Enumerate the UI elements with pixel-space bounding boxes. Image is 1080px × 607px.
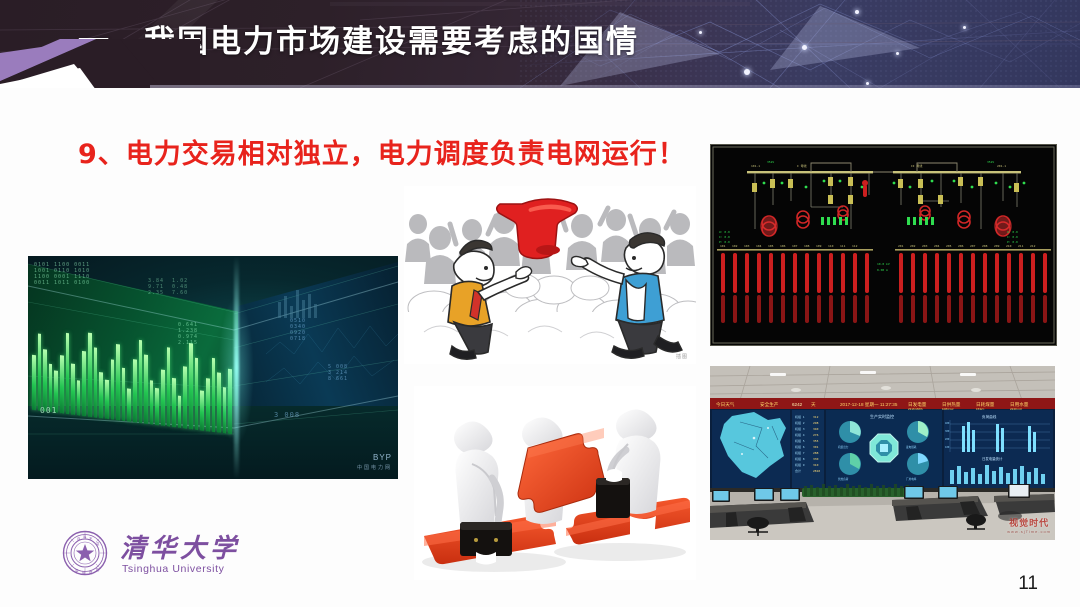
control-room-watermark-subtext: www.sjTime.com (1007, 529, 1051, 534)
slide-subtitle: 9、电力交易相对独立，电力调度负责电网运行！ (78, 132, 686, 171)
power-dispatch-control-room-photo: 今日天气 安全生产 6242 天 2017-12-18 星期一 11:27:35… (710, 366, 1055, 540)
header-bottom-edge-line (150, 85, 1080, 88)
svg-text:276: 276 (813, 433, 819, 437)
bar-3 (43, 350, 47, 412)
bar-8 (71, 364, 75, 415)
bar-33 (212, 358, 216, 432)
bar-18 (127, 388, 131, 422)
svg-text:101-1: 101-1 (751, 164, 760, 168)
svg-text:100: 100 (945, 446, 950, 449)
svg-text:生产实时监控: 生产实时监控 (870, 413, 894, 419)
bar-10 (82, 351, 86, 417)
svg-text:P: 0.0: P: 0.0 (1007, 240, 1018, 244)
page-number: 11 (1018, 573, 1038, 595)
svg-text:I: 0.0: I: 0.0 (719, 235, 730, 239)
svg-text:机组 2: 机组 2 (795, 420, 805, 425)
svg-text:206: 206 (958, 244, 964, 248)
svg-text:301: 301 (813, 445, 819, 449)
svg-text:机组 9: 机组 9 (795, 462, 805, 467)
svg-text:288: 288 (813, 451, 819, 455)
businessmen-red-stamp-cartoon: 插图 (404, 186, 696, 364)
electricity-trading-data-visualization: 0101 1100 0011 1001 0110 1010 1100 0001 … (28, 256, 398, 479)
bar-1 (32, 355, 36, 410)
svg-text:109: 109 (816, 244, 822, 248)
svg-text:310: 310 (813, 463, 819, 467)
green-watermark-text: BYP (373, 453, 392, 462)
svg-text:212: 212 (1030, 244, 1036, 248)
svg-text:101: 101 (720, 244, 726, 248)
bar-20 (139, 340, 143, 423)
bar-19 (133, 359, 137, 423)
control-room-watermark-text: 视觉时代 (1009, 518, 1049, 528)
svg-text:340: 340 (813, 427, 819, 431)
green-image-watermark: BYP 中国电力网 (357, 453, 392, 473)
svg-text:108: 108 (804, 244, 810, 248)
slide-canvas: 一、我国电力市场建设需要考虑的国情 9、电力交易相对独立，电力调度负责电网运行！ (0, 0, 1080, 607)
svg-text:负荷曲线: 负荷曲线 (982, 414, 997, 419)
svg-text:202: 202 (910, 244, 916, 248)
blue-data-text-2: 5 008 3 214 8 661 (328, 364, 348, 382)
svg-text:合计: 合计 (795, 468, 801, 473)
svg-text:112: 112 (852, 244, 858, 248)
svg-text:200: 200 (945, 438, 950, 441)
svg-text:自: 自 (77, 536, 80, 541)
svg-text:35kV: 35kV (767, 160, 774, 164)
bar-2 (38, 333, 42, 411)
svg-text:0.00 A: 0.00 A (877, 268, 888, 272)
svg-text:I: 0.0: I: 0.0 (1007, 235, 1018, 239)
svg-text:机组 7: 机组 7 (795, 450, 805, 455)
svg-text:355: 355 (813, 439, 819, 443)
bar-13 (99, 372, 103, 418)
control-room-scene-icon: 今日天气 安全生产 6242 天 2017-12-18 星期一 11:27:35… (710, 366, 1055, 540)
bar-22 (150, 380, 154, 424)
bar-30 (195, 358, 199, 431)
svg-text:312: 312 (813, 415, 819, 419)
bar-15 (111, 360, 115, 420)
svg-text:298: 298 (813, 421, 819, 425)
svg-text:102: 102 (732, 244, 738, 248)
svg-text:机组 1: 机组 1 (795, 414, 805, 419)
scada-schematic-icon: 101102103 104105106 107108109 110111112 … (711, 145, 1056, 345)
green-data-text-col: 0.641 1.238 0.974 2.115 (178, 322, 198, 346)
svg-text:201: 201 (898, 244, 904, 248)
svg-text:机组 6: 机组 6 (795, 444, 805, 449)
puzzle-cooperation-icon (414, 386, 696, 580)
svg-text:204: 204 (934, 244, 940, 248)
blue-big-readout: 3 008 (274, 412, 300, 418)
svg-text:103: 103 (744, 244, 750, 248)
cartoon-illustration-icon (404, 186, 696, 364)
svg-text:机组出力: 机组出力 (838, 445, 849, 449)
puzzle-piece-cooperation-figures (414, 386, 696, 580)
svg-text:208: 208 (982, 244, 988, 248)
bar-28 (183, 367, 187, 429)
blue-data-text: 0510 0340 0920 0718 (290, 318, 306, 342)
svg-text:107: 107 (792, 244, 798, 248)
svg-text:300: 300 (945, 430, 950, 433)
center-light-beam (234, 256, 239, 479)
bar-31 (200, 390, 204, 431)
svg-text:机组 5: 机组 5 (795, 438, 805, 443)
svg-text:U: 0.0: U: 0.0 (719, 230, 730, 234)
svg-text:机组 3: 机组 3 (795, 426, 805, 431)
svg-text:10.0 kV: 10.0 kV (877, 262, 890, 266)
svg-text:不: 不 (89, 537, 93, 541)
bar-25 (167, 347, 171, 427)
logo-name-en: Tsinghua University (122, 563, 224, 575)
svg-text:207: 207 (970, 244, 976, 248)
svg-text:104: 104 (756, 244, 762, 248)
svg-text:供热负荷: 供热负荷 (838, 477, 849, 481)
bar-21 (144, 355, 148, 424)
bar-12 (94, 347, 98, 418)
cartoon-signature: 插图 (676, 353, 688, 360)
svg-text:I 母线: I 母线 (797, 163, 807, 168)
svg-text:P: 0.0: P: 0.0 (719, 240, 730, 244)
bar-9 (77, 380, 81, 416)
svg-text:发电煤耗: 发电煤耗 (906, 445, 917, 449)
svg-text:330: 330 (813, 457, 819, 461)
svg-text:110: 110 (828, 244, 834, 248)
svg-text:U: 0.0: U: 0.0 (1007, 230, 1018, 234)
svg-text:机组 8: 机组 8 (795, 456, 805, 461)
bar-17 (122, 368, 126, 421)
svg-text:日发电量统计: 日发电量统计 (982, 456, 1003, 461)
tsinghua-seal-icon: 自强不 息 厚德载物 (62, 530, 108, 576)
tsinghua-university-logo: 自强不 息 厚德载物 清华大学 Tsinghua University (62, 528, 272, 582)
svg-text:2810: 2810 (813, 469, 820, 473)
svg-text:211: 211 (1018, 244, 1024, 248)
logo-name-cn: 清华大学 (120, 528, 240, 565)
svg-text:6242: 6242 (792, 402, 803, 407)
green-data-text-mid: 3.84 1.02 9.71 0.48 2.35 7.60 (148, 278, 188, 296)
bar-24 (161, 369, 165, 426)
bar-11 (88, 332, 92, 417)
scada-single-line-diagram: 信号电压：0.0 V (710, 144, 1057, 346)
svg-text:205: 205 (946, 244, 952, 248)
svg-text:II 母线: II 母线 (911, 163, 922, 168)
bar-6 (60, 355, 64, 414)
svg-text:106: 106 (780, 244, 786, 248)
svg-text:35kV: 35kV (987, 160, 994, 164)
bar-32 (206, 378, 210, 431)
control-room-watermark: 视觉时代 www.sjTime.com (1007, 516, 1051, 534)
svg-text:今日天气: 今日天气 (716, 401, 735, 408)
bar-14 (105, 380, 109, 419)
svg-text:400: 400 (945, 422, 950, 425)
svg-text:105: 105 (768, 244, 774, 248)
bar-29 (189, 343, 193, 430)
bar-23 (155, 388, 159, 425)
bar-7 (66, 333, 70, 414)
svg-text:210: 210 (1006, 244, 1012, 248)
svg-text:111: 111 (840, 244, 846, 248)
svg-text:201-1: 201-1 (997, 164, 1006, 168)
svg-text:厂用电率: 厂用电率 (906, 477, 917, 481)
svg-text:209: 209 (994, 244, 1000, 248)
green-watermark-subtext: 中国电力网 (357, 463, 392, 473)
green-big-readout: 001 (40, 408, 57, 414)
svg-text:203: 203 (922, 244, 928, 248)
green-data-text-left: 0101 1100 0011 1001 0110 1010 1100 0001 … (34, 262, 90, 286)
bar-16 (116, 344, 120, 420)
bar-26 (172, 378, 176, 428)
svg-text:安全生产: 安全生产 (760, 401, 779, 408)
svg-text:机组 4: 机组 4 (795, 432, 805, 437)
bar-27 (178, 396, 182, 428)
slide-header: 一、我国电力市场建设需要考虑的国情 (0, 0, 1080, 88)
